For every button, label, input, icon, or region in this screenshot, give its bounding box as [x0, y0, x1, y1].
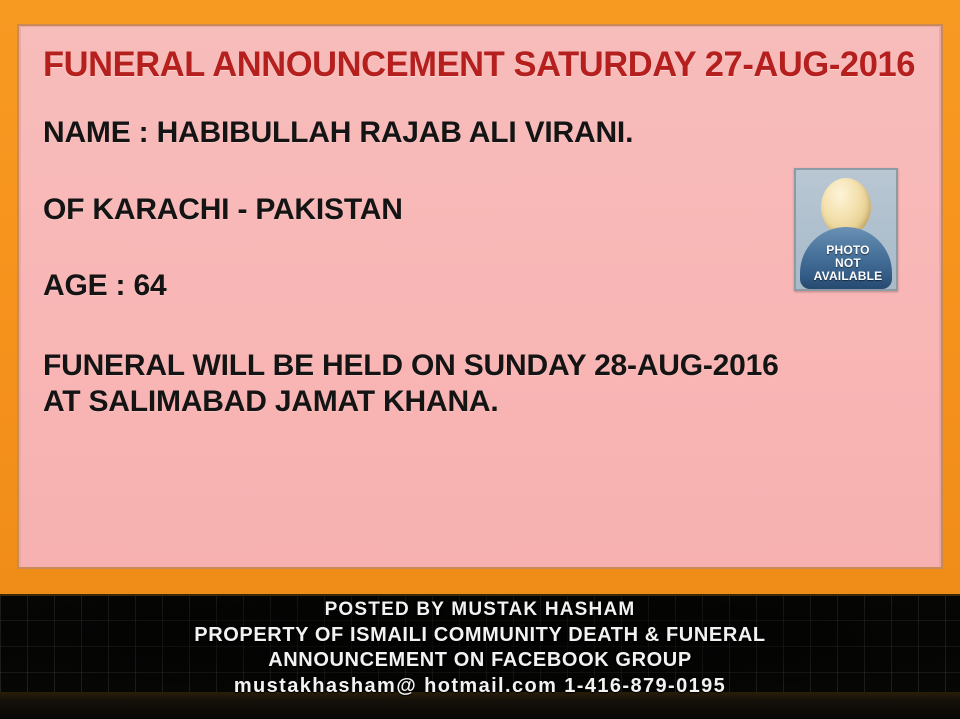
funeral-where-line: AT SALIMABAD JAMAT KHANA.	[43, 384, 803, 420]
funeral-when-line: FUNERAL WILL BE HELD ON SUNDAY 28-AUG-20…	[43, 348, 803, 384]
age-line: AGE : 64	[43, 268, 803, 304]
footer-group-line: ANNOUNCEMENT ON FACEBOOK GROUP	[0, 648, 960, 673]
announcement-card: FUNERAL ANNOUNCEMENT SATURDAY 27-AUG-201…	[21, 27, 939, 567]
photo-text-line-3: AVAILABLE	[796, 270, 898, 283]
footer-posted-by: POSTED BY MUSTAK HASHAM	[0, 597, 960, 623]
announcement-body: NAME : HABIBULLAH RAJAB ALI VIRANI. OF K…	[43, 115, 803, 420]
footer-contact-line: mustakhasham@ hotmail.com 1-416-879-0195	[0, 673, 960, 700]
page-title: FUNERAL ANNOUNCEMENT SATURDAY 27-AUG-201…	[43, 45, 910, 85]
footer-property-line: PROPERTY OF ISMAILI COMMUNITY DEATH & FU…	[0, 623, 960, 648]
footer-text-block: POSTED BY MUSTAK HASHAM PROPERTY OF ISMA…	[0, 597, 960, 700]
orange-frame: FUNERAL ANNOUNCEMENT SATURDAY 27-AUG-201…	[0, 0, 960, 594]
spacer	[43, 151, 803, 192]
photo-not-available-text: PHOTO NOT AVAILABLE	[796, 244, 898, 283]
origin-line: OF KARACHI - PAKISTAN	[43, 192, 803, 228]
footer-top-edge	[0, 594, 960, 596]
footer-credit-bar: POSTED BY MUSTAK HASHAM PROPERTY OF ISMA…	[0, 594, 960, 719]
photo-not-available-badge: PHOTO NOT AVAILABLE	[794, 168, 898, 291]
funeral-announcement-poster: FUNERAL ANNOUNCEMENT SATURDAY 27-AUG-201…	[0, 0, 960, 719]
spacer	[43, 228, 803, 268]
deceased-name-line: NAME : HABIBULLAH RAJAB ALI VIRANI.	[43, 115, 803, 151]
spacer	[43, 304, 803, 348]
